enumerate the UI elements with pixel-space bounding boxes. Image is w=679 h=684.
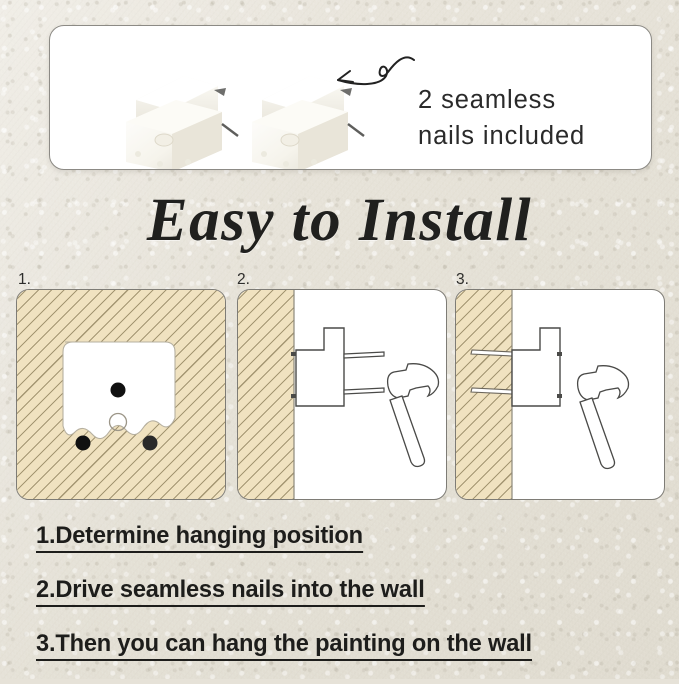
instruction-row-1: 1.Determine hanging position	[36, 522, 656, 553]
instruction-text-3: 3.Then you can hang the painting on the …	[36, 630, 532, 661]
callout-line-1: 2 seamless	[418, 82, 648, 118]
callout-text: 2 seamless nails included	[418, 82, 648, 154]
hook-profile	[296, 328, 344, 406]
page-title: Easy to Install	[0, 186, 679, 256]
black-dot-right	[143, 436, 158, 451]
product-card: 2 seamless nails included	[49, 25, 652, 170]
black-dot-top	[111, 383, 126, 398]
hook-front-view-diagram	[17, 290, 225, 499]
step-panel-3	[455, 289, 665, 500]
hammer-icon	[578, 366, 629, 469]
nail-lower	[344, 388, 384, 394]
black-dot-left	[76, 436, 91, 451]
hook-photo-left	[114, 66, 239, 170]
instruction-row-3: 3.Then you can hang the painting on the …	[36, 630, 656, 661]
step-number-2: 2.	[237, 271, 250, 289]
hook-profile-mounted	[512, 328, 560, 406]
driven-nail-upper	[471, 350, 512, 356]
hammer-icon	[388, 364, 439, 467]
hook-side-view-with-hammer-diagram	[238, 290, 446, 499]
step-number-1: 1.	[18, 271, 31, 289]
step-panel-2	[237, 289, 447, 500]
instruction-text-2: 2.Drive seamless nails into the wall	[36, 576, 425, 607]
hook-mounted-with-hammer-diagram	[456, 290, 664, 499]
instruction-text-1: 1.Determine hanging position	[36, 522, 363, 553]
driven-nail-lower	[471, 388, 512, 394]
callout-line-2: nails included	[418, 118, 648, 154]
curly-arrow-icon	[322, 50, 417, 103]
nail-upper	[344, 352, 384, 358]
step-panel-1	[16, 289, 226, 500]
instruction-list: 1.Determine hanging position 2.Drive sea…	[36, 522, 656, 684]
instruction-row-2: 2.Drive seamless nails into the wall	[36, 576, 656, 607]
step-number-3: 3.	[456, 271, 469, 289]
